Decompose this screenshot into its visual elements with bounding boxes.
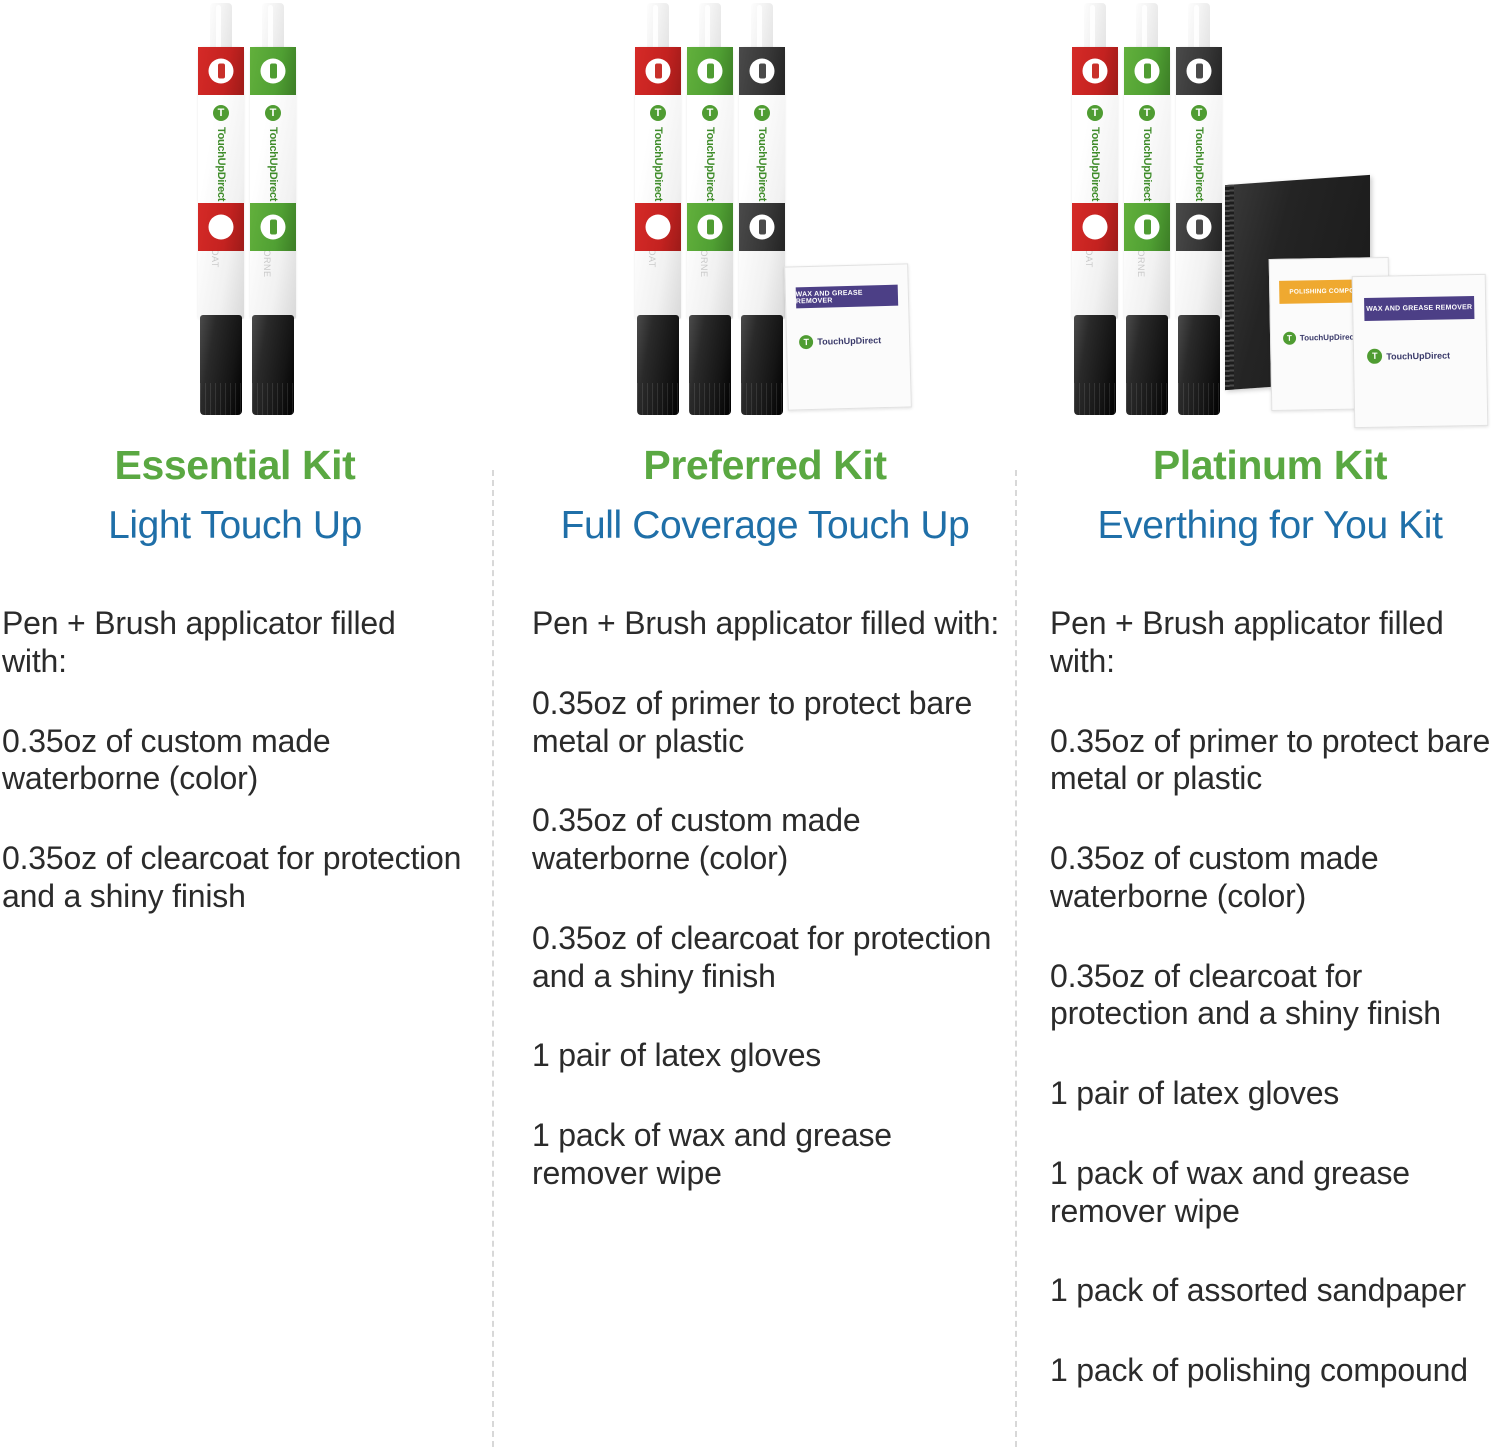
pen-clearcoat: T TouchUpDirect LOW VOC CLEARCOAT xyxy=(198,3,244,415)
pen-band-top xyxy=(1072,47,1118,95)
brand-mark-icon: T xyxy=(799,335,813,349)
feature-item: Pen + Brush applicator filled with: xyxy=(2,605,466,681)
brush-tip-icon xyxy=(1187,215,1212,240)
brand-mark-icon: T xyxy=(1191,105,1207,121)
pen-band-bottom xyxy=(250,203,296,251)
kit-title: Essential Kit xyxy=(0,445,470,486)
brand-wordmark: TouchUpDirect xyxy=(1089,127,1101,201)
pen-band-bottom xyxy=(635,203,681,251)
brand-mark-icon: T xyxy=(1087,105,1103,121)
feature-item: 0.35oz of primer to protect bare metal o… xyxy=(532,685,1006,761)
pen-band-bottom xyxy=(739,203,785,251)
product-image-preferred: T TouchUpDirect LOW VOC CLEARCOAT T Touc… xyxy=(520,0,1010,445)
feature-item: 0.35oz of custom made waterborne (color) xyxy=(1050,840,1496,916)
pen-band-bottom xyxy=(1176,203,1222,251)
feature-item: 1 pair of latex gloves xyxy=(1050,1075,1496,1113)
feature-item: 0.35oz of primer to protect bare metal o… xyxy=(1050,723,1496,799)
brand-wordmark: TouchUpDirect xyxy=(704,127,716,201)
brush-tip-icon xyxy=(750,215,775,240)
shake-bottle-icon xyxy=(1083,59,1108,84)
pen-cap xyxy=(1074,315,1116,415)
shake-bottle-icon xyxy=(646,59,671,84)
product-image-platinum: T TouchUpDirect LOW VOC CLEARCOAT T Touc… xyxy=(1040,0,1500,445)
pen-cap xyxy=(1178,315,1220,415)
brand-wordmark: TouchUpDirect xyxy=(267,127,279,201)
pen-primer: T TouchUpDirect LOW VOC PRIMER xyxy=(1176,3,1222,415)
feature-list: Pen + Brush applicator filled with: 0.35… xyxy=(1050,605,1500,1390)
packet-brand-logo: T TouchUpDirect xyxy=(1283,331,1357,345)
feature-list: Pen + Brush applicator filled with: 0.35… xyxy=(2,605,470,916)
pen-cap xyxy=(1126,315,1168,415)
brand-wordmark: TouchUpDirect xyxy=(817,335,881,347)
wax-wipe-packet: WAX AND GREASE REMOVER T TouchUpDirect xyxy=(1352,274,1489,428)
feature-item: 1 pack of wax and grease remover wipe xyxy=(1050,1155,1496,1231)
brand-mark-icon: T xyxy=(265,105,281,121)
pen-band-top xyxy=(198,47,244,95)
brand-mark-icon: T xyxy=(1283,332,1296,345)
kit-subtitle: Full Coverage Touch Up xyxy=(520,506,1010,545)
pen-band-top xyxy=(739,47,785,95)
feature-item: 0.35oz of clearcoat for protection and a… xyxy=(2,840,466,916)
brand-wordmark: TouchUpDirect xyxy=(1193,127,1205,201)
pen-cap xyxy=(741,315,783,415)
pen-band-bottom xyxy=(687,203,733,251)
brand-wordmark: TouchUpDirect xyxy=(1300,333,1357,343)
pen-cap xyxy=(252,315,294,415)
feature-item: 0.35oz of custom made waterborne (color) xyxy=(2,723,466,799)
pen-cap xyxy=(637,315,679,415)
brush-tip-icon xyxy=(261,215,286,240)
column-divider-1 xyxy=(492,470,494,1447)
feature-item: 1 pack of wax and grease remover wipe xyxy=(532,1117,1006,1193)
brand-mark-icon: T xyxy=(650,105,666,121)
brand-mark-icon: T xyxy=(702,105,718,121)
brand-wordmark: TouchUpDirect xyxy=(215,127,227,201)
packet-brand-logo: T TouchUpDirect xyxy=(799,333,881,349)
pen-band-bottom xyxy=(198,203,244,251)
wax-wipe-packet: WAX AND GREASE REMOVER T TouchUpDirect xyxy=(784,263,912,410)
shake-bottle-icon xyxy=(1187,59,1212,84)
pen-waterborne: T TouchUpDirect LOW VOC WATERBORNE xyxy=(1124,3,1170,415)
brand-wordmark: TouchUpDirect xyxy=(652,127,664,201)
brand-wordmark: TouchUpDirect xyxy=(756,127,768,201)
kit-column-preferred: T TouchUpDirect LOW VOC CLEARCOAT T Touc… xyxy=(520,0,1010,1447)
feature-item: 0.35oz of clearcoat for protection and a… xyxy=(532,920,1006,996)
brush-tip-icon xyxy=(698,215,723,240)
pen-waterborne: T TouchUpDirect LOW VOC WATERBORNE xyxy=(250,3,296,415)
product-image-essential: T TouchUpDirect LOW VOC CLEARCOAT T Touc… xyxy=(0,0,470,445)
brand-mark-icon: T xyxy=(213,105,229,121)
pen-clearcoat: T TouchUpDirect LOW VOC CLEARCOAT xyxy=(1072,3,1118,415)
feature-item: 0.35oz of custom made waterborne (color) xyxy=(532,802,1006,878)
kit-column-platinum: T TouchUpDirect LOW VOC CLEARCOAT T Touc… xyxy=(1040,0,1500,1447)
sandpaper-stack-edge xyxy=(1225,184,1234,390)
pen-band-top xyxy=(687,47,733,95)
feature-list: Pen + Brush applicator filled with: 0.35… xyxy=(532,605,1010,1193)
pen-waterborne: T TouchUpDirect LOW VOC WATERBORNE xyxy=(687,3,733,415)
pen-band-top xyxy=(635,47,681,95)
kit-subtitle: Light Touch Up xyxy=(0,506,470,545)
brush-tip-icon xyxy=(1135,215,1160,240)
column-divider-2 xyxy=(1015,470,1017,1447)
brush-tip-icon xyxy=(646,215,671,240)
kit-column-essential: T TouchUpDirect LOW VOC CLEARCOAT T Touc… xyxy=(0,0,470,1447)
pen-primer: T TouchUpDirect LOW VOC PRIMER xyxy=(739,3,785,415)
shake-bottle-icon xyxy=(209,59,234,84)
brand-mark-icon: T xyxy=(754,105,770,121)
brand-wordmark: TouchUpDirect xyxy=(1141,127,1153,201)
shake-bottle-icon xyxy=(1135,59,1160,84)
brand-wordmark: TouchUpDirect xyxy=(1386,350,1450,361)
shake-bottle-icon xyxy=(750,59,775,84)
pen-cap xyxy=(689,315,731,415)
kit-comparison-board: T TouchUpDirect LOW VOC CLEARCOAT T Touc… xyxy=(0,0,1500,1447)
brand-mark-icon: T xyxy=(1139,105,1155,121)
brush-tip-icon xyxy=(209,215,234,240)
pen-cap xyxy=(200,315,242,415)
pen-band-top xyxy=(250,47,296,95)
feature-item: 1 pack of assorted sandpaper xyxy=(1050,1272,1496,1310)
pen-clearcoat: T TouchUpDirect LOW VOC CLEARCOAT xyxy=(635,3,681,415)
packet-brand-logo: T TouchUpDirect xyxy=(1367,347,1450,363)
shake-bottle-icon xyxy=(261,59,286,84)
packet-strip-label: WAX AND GREASE REMOVER xyxy=(1364,296,1475,320)
kit-subtitle: Everthing for You Kit xyxy=(1040,506,1500,545)
feature-item: Pen + Brush applicator filled with: xyxy=(1050,605,1496,681)
packet-strip-label: WAX AND GREASE REMOVER xyxy=(795,285,898,309)
feature-item: 1 pack of polishing compound xyxy=(1050,1352,1496,1390)
kit-title: Platinum Kit xyxy=(1040,445,1500,486)
shake-bottle-icon xyxy=(698,59,723,84)
pen-band-bottom xyxy=(1072,203,1118,251)
kit-title: Preferred Kit xyxy=(520,445,1010,486)
feature-item: 1 pair of latex gloves xyxy=(532,1037,1006,1075)
pen-band-top xyxy=(1124,47,1170,95)
pen-band-bottom xyxy=(1124,203,1170,251)
brand-mark-icon: T xyxy=(1367,349,1382,364)
feature-item: 0.35oz of clearcoat for protection and a… xyxy=(1050,958,1496,1034)
pen-band-top xyxy=(1176,47,1222,95)
feature-item: Pen + Brush applicator filled with: xyxy=(532,605,1006,643)
brush-tip-icon xyxy=(1083,215,1108,240)
